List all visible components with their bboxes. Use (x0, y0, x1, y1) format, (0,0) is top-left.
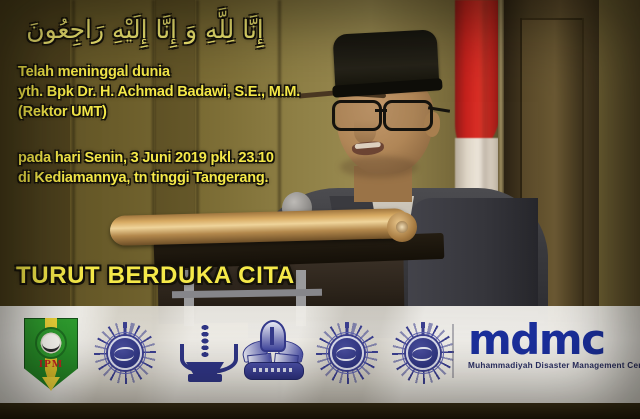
sun-calligraphy-disc (108, 336, 142, 370)
ipm-gear-emblem (35, 327, 67, 359)
announcement-line-2-deceased-name: yth. Bpk Dr. H. Achmad Badawi, S.E., M.M… (18, 84, 300, 100)
lens-left (332, 100, 382, 131)
ipm-shield-tip (42, 377, 60, 391)
mdmc-brand: mdmc Muhammadiyah Disaster Management Ce… (468, 320, 628, 370)
nasyiatul-aisyiyah-logo (240, 320, 306, 384)
flower-banner-ribbon (244, 362, 304, 380)
muhammadiyah-sun-logo-2 (392, 322, 454, 384)
bottom-dark-strip (0, 403, 640, 419)
peci-cap (333, 29, 440, 92)
lens-right (383, 100, 433, 131)
eyebrow-left (298, 90, 336, 98)
chin-shadow (340, 156, 418, 178)
arabic-inna-lillahi-text: إِنَّا لِلَّهِ وَ إِنَّا إِلَيْهِ رَاجِع… (0, 14, 290, 45)
ipm-label: IPM (24, 358, 78, 370)
eyeglasses-icon (328, 100, 440, 126)
pemuda-muhammadiyah-logo (174, 322, 236, 384)
ipm-logo: IPM (24, 318, 78, 390)
announcement-line-1: Telah meninggal dunia (18, 64, 170, 80)
sun-calligraphy-disc (406, 336, 440, 370)
logo-bar-divider (452, 324, 454, 378)
announcement-line-3-title: (Rektor UMT) (18, 104, 107, 120)
glasses-bridge (375, 109, 387, 112)
condolence-headline: TURUT BERDUKA CITA (16, 262, 295, 290)
condolence-poster: إِنَّا لِلَّهِ وَ إِنَّا إِلَيْهِ رَاجِع… (0, 0, 640, 419)
wheat-base-banner (188, 374, 222, 382)
announcement-line-4-datetime: pada hari Senin, 3 Juni 2019 pkl. 23.10 (18, 150, 274, 166)
wheat-stalk (199, 324, 211, 358)
wall-far-right (599, 0, 640, 340)
aisyiyah-sun-logo (316, 322, 378, 384)
muhammadiyah-sun-logo (94, 322, 156, 384)
announcement-line-5-place: di Kediamannya, tn tinggi Tangerang. (18, 170, 268, 186)
sun-calligraphy-disc (330, 336, 364, 370)
mdmc-wordmark: mdmc (468, 320, 628, 360)
mdmc-tagline: Muhammadiyah Disaster Management Center (468, 361, 628, 370)
flower-bud (260, 320, 286, 352)
